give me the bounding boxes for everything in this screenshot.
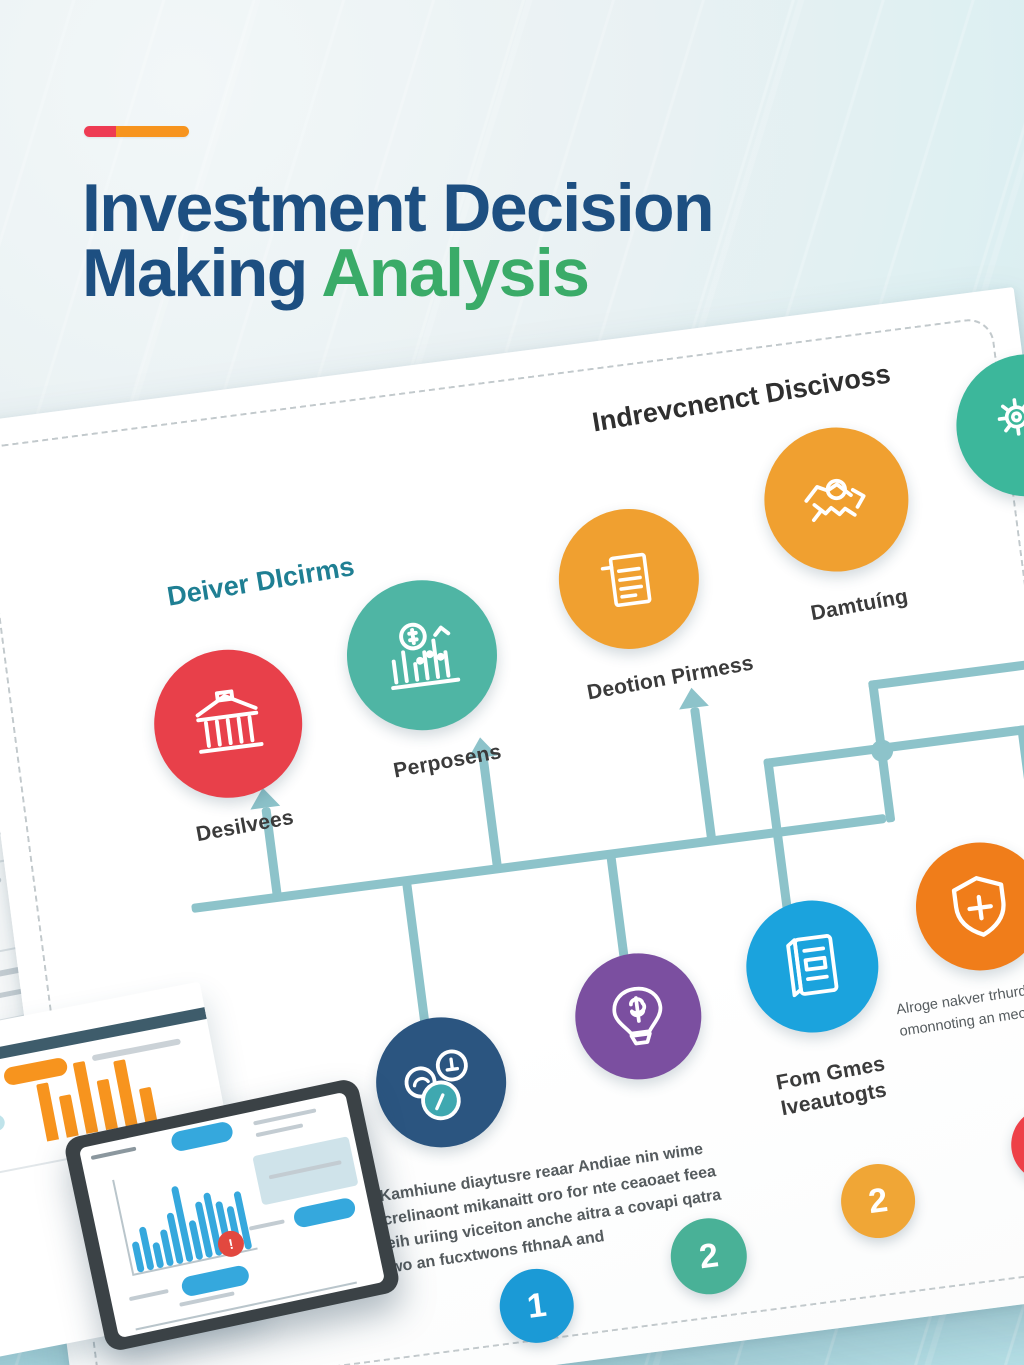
report-bar [59,1094,79,1138]
page-title-analysis: Analysis [321,235,588,311]
screen-text-line [129,1289,169,1301]
accent-bar [84,126,189,137]
bank-icon [184,680,271,767]
dollar-bulb-icon [597,975,680,1058]
page-title: Investment Decision Making Analysis [82,176,902,307]
report-bar [97,1079,118,1130]
document-list-icon [589,539,670,620]
report-bar [73,1061,99,1134]
screen-cta-button[interactable] [180,1264,251,1298]
screen-title-line [91,1147,137,1160]
shield-cross-icon [937,864,1022,949]
report-chip [0,1113,6,1147]
screen-secondary-button[interactable] [292,1196,357,1228]
report-action-pill[interactable] [3,1057,69,1087]
screen-text-line [253,1108,316,1125]
page-title-line-2: Making Analysis [82,241,902,306]
screen-chart-y-axis [112,1180,134,1274]
book-report-icon [770,924,855,1009]
gears-icon [984,382,1024,469]
report-bar [36,1082,59,1141]
screen-text-line [249,1219,285,1230]
gauge-cluster-icon [390,1031,493,1134]
accent-bar-segment-red [84,126,116,137]
handshake-icon [792,455,882,545]
arrow-up-icon [677,686,709,710]
page-title-making: Making [82,235,321,311]
page-title-line-1: Investment Decision [82,176,902,241]
report-text-line [92,1038,181,1061]
accent-bar-segment-orange [116,126,190,137]
screen-text-line [256,1123,304,1137]
report-bar [113,1059,137,1126]
report-bar [139,1087,157,1123]
growth-chart-dollar-icon [375,608,469,702]
